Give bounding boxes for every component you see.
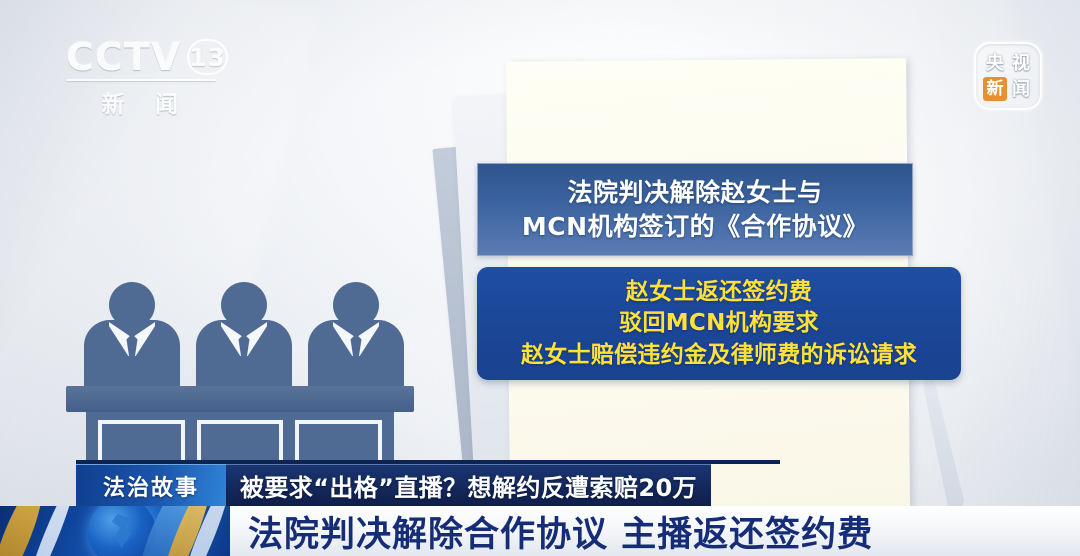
headline-text: 法院判决解除合作协议 主播返还签约费 — [230, 506, 873, 556]
headline-row: 法院判决解除合作协议 主播返还签约费 — [0, 506, 1080, 556]
verdict-banner-secondary: 赵女士返还签约费 驳回MCN机构要求 赵女士赔偿违约金及律师费的诉讼请求 — [477, 267, 961, 380]
lower-third-topic-row: 法治故事 被要求“出格”直播？想解约反遭索赔20万 — [76, 464, 711, 506]
cctv-news-logo-char-yang: 央 — [983, 51, 1007, 75]
cctv-underline-rule — [66, 79, 216, 81]
lower-third: 法治故事 被要求“出格”直播？想解约反遭索赔20万 法院判决解除合作协议 主播返… — [0, 464, 1080, 556]
broadcast-frame: CCTV 13 新 闻 央 视 新 闻 — [0, 0, 1080, 556]
cctv-news-logo-row-top: 央 视 — [983, 51, 1033, 75]
judge-figure-left — [84, 282, 180, 390]
verdict-banner-primary: 法院判决解除赵女士与 MCN机构签订的《合作协议》 — [477, 163, 913, 256]
subheadline-bar: 被要求“出格”直播？想解约反遭索赔20万 — [226, 464, 711, 506]
program-topic-tag-label: 法治故事 — [103, 470, 199, 502]
verdict-banner-secondary-line-2: 驳回MCN机构要求 — [619, 308, 819, 339]
cctv-wordmark: CCTV 13 — [66, 38, 216, 76]
verdict-banner-secondary-line-3: 赵女士赔偿违约金及律师费的诉讼请求 — [521, 340, 917, 371]
verdict-banner-secondary-line-1: 赵女士返还签约费 — [626, 277, 812, 308]
subheadline-text: 被要求“出格”直播？想解约反遭索赔20万 — [240, 468, 697, 503]
cctv-news-logo-row-bottom: 新 闻 — [983, 77, 1033, 101]
cctv-news-logo-char-wen: 闻 — [1009, 77, 1033, 101]
cctv-globe-emblem — [0, 506, 230, 556]
program-topic-tag: 法治故事 — [76, 464, 226, 506]
cctv-news-logo-char-shi: 视 — [1009, 51, 1033, 75]
cctv-watermark-subtitle: 新 闻 — [66, 85, 216, 119]
judge-figure-right — [308, 282, 404, 390]
cctv-news-logo: 央 视 新 闻 — [974, 42, 1042, 110]
cctv13-watermark-logo: CCTV 13 新 闻 — [66, 38, 216, 118]
verdict-banner-primary-line-2: MCN机构签订的《合作协议》 — [522, 211, 868, 243]
cctv-wordmark-text: CCTV — [66, 38, 181, 76]
verdict-banner-primary-line-1: 法院判决解除赵女士与 — [567, 177, 822, 209]
cctv-news-logo-char-xin: 新 — [983, 77, 1007, 101]
cctv-channel-number: 13 — [187, 39, 228, 75]
judge-figure-center — [196, 282, 292, 390]
bench-countertop — [66, 386, 414, 412]
